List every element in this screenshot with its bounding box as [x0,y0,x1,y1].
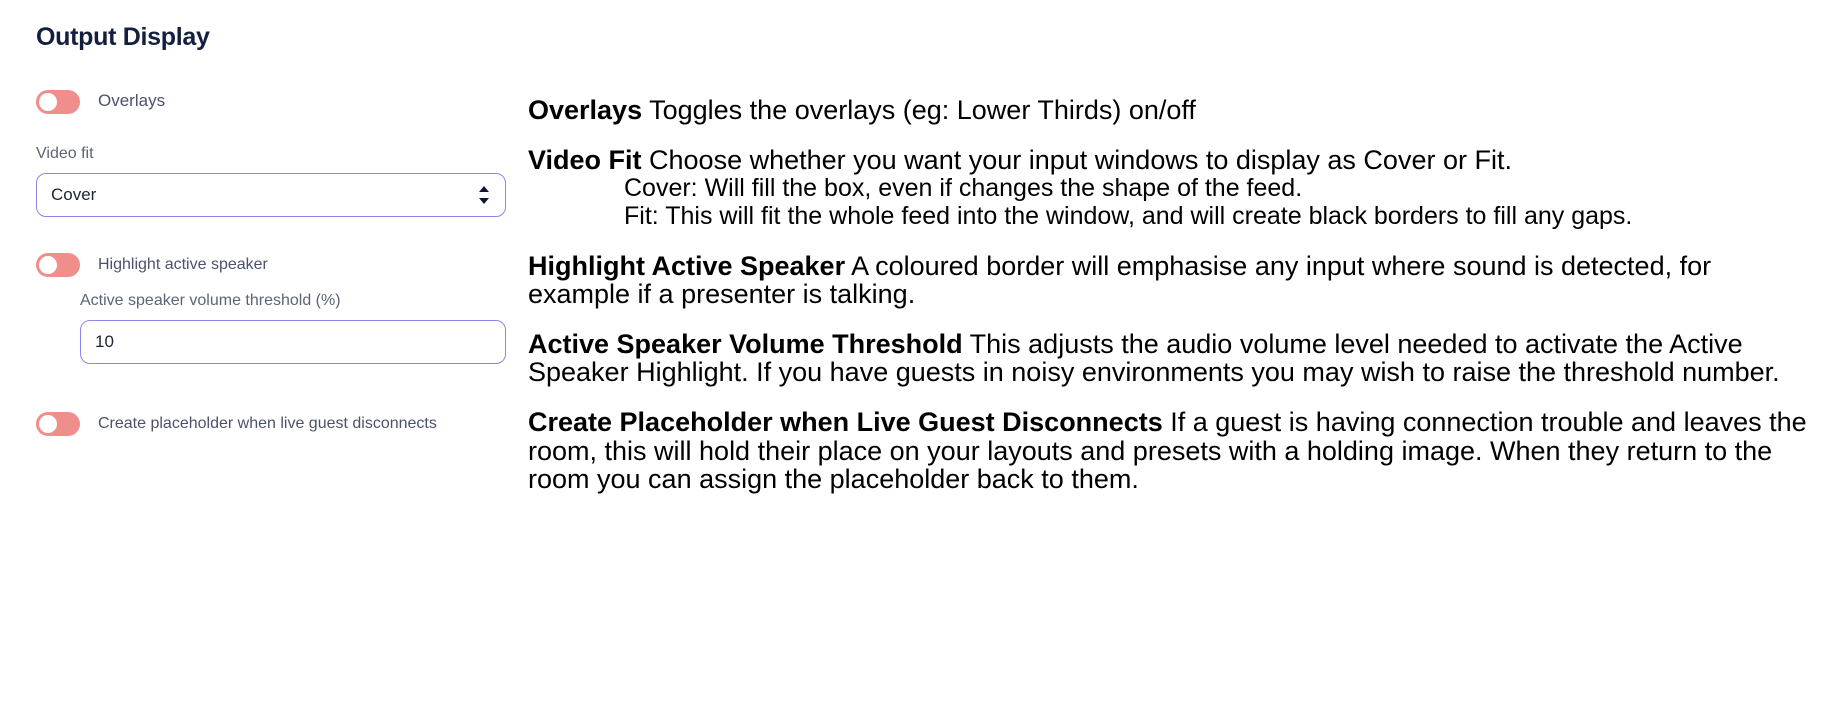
doc-line: Create Placeholder when Live Guest Disco… [528,408,1818,492]
doc-entry-create-placeholder: Create Placeholder when Live Guest Disco… [528,408,1818,492]
video-fit-select[interactable]: Cover [36,173,506,217]
doc-term: Create Placeholder when Live Guest Disco… [528,407,1163,437]
doc-term: Active Speaker Volume Threshold [528,329,963,359]
toggle-knob-icon [39,256,57,274]
doc-line: Video Fit Choose whether you want your i… [528,146,1818,174]
doc-line: Highlight Active Speaker A coloured bord… [528,252,1818,308]
output-display-settings-page: Output Display Overlays Video fit Cover [0,0,1834,718]
doc-sub-line-cover: Cover: Will fill the box, even if change… [624,174,1818,202]
create-placeholder-toggle-switch[interactable] [36,412,80,436]
create-placeholder-toggle-row: Create placeholder when live guest disco… [36,412,506,436]
doc-entry-video-fit: Video Fit Choose whether you want your i… [528,146,1818,230]
doc-entry-highlight-active-speaker: Highlight Active Speaker A coloured bord… [528,252,1818,308]
page-title: Output Display [36,24,506,52]
doc-sub-line-fit: Fit: This will fit the whole feed into t… [624,202,1818,230]
video-fit-selected-value: Cover [51,186,477,203]
documentation-panel: Overlays Toggles the overlays (eg: Lower… [528,96,1818,493]
video-fit-label: Video fit [36,144,506,163]
doc-line: Overlays Toggles the overlays (eg: Lower… [528,96,1818,124]
active-speaker-threshold-input[interactable]: 10 [80,320,506,364]
chevron-up-down-icon [477,184,491,206]
doc-description: Choose whether you want your input windo… [649,145,1512,175]
doc-entry-active-speaker-volume-threshold: Active Speaker Volume Threshold This adj… [528,330,1818,386]
doc-description: Toggles the overlays (eg: Lower Thirds) … [649,95,1196,125]
overlays-toggle-switch[interactable] [36,90,80,114]
doc-line: Active Speaker Volume Threshold This adj… [528,330,1818,386]
doc-entry-overlays: Overlays Toggles the overlays (eg: Lower… [528,96,1818,124]
toggle-knob-icon [39,93,57,111]
highlight-active-speaker-toggle-label: Highlight active speaker [98,255,268,274]
layout-spacer [36,364,506,412]
active-speaker-threshold-field-group: Active speaker volume threshold (%) 10 [80,291,506,364]
highlight-active-speaker-toggle-row: Highlight active speaker [36,253,506,277]
create-placeholder-toggle-label: Create placeholder when live guest disco… [98,414,437,433]
overlays-toggle-row: Overlays [36,90,506,114]
settings-panel: Output Display Overlays Video fit Cover [36,24,506,450]
toggle-knob-icon [39,415,57,433]
doc-term: Highlight Active Speaker [528,251,845,281]
highlight-active-speaker-toggle-switch[interactable] [36,253,80,277]
overlays-toggle-label: Overlays [98,91,165,111]
doc-term: Overlays [528,95,642,125]
active-speaker-threshold-label: Active speaker volume threshold (%) [80,291,506,310]
active-speaker-threshold-value: 10 [95,333,491,350]
video-fit-field-group: Video fit Cover [36,144,506,217]
doc-term: Video Fit [528,145,642,175]
